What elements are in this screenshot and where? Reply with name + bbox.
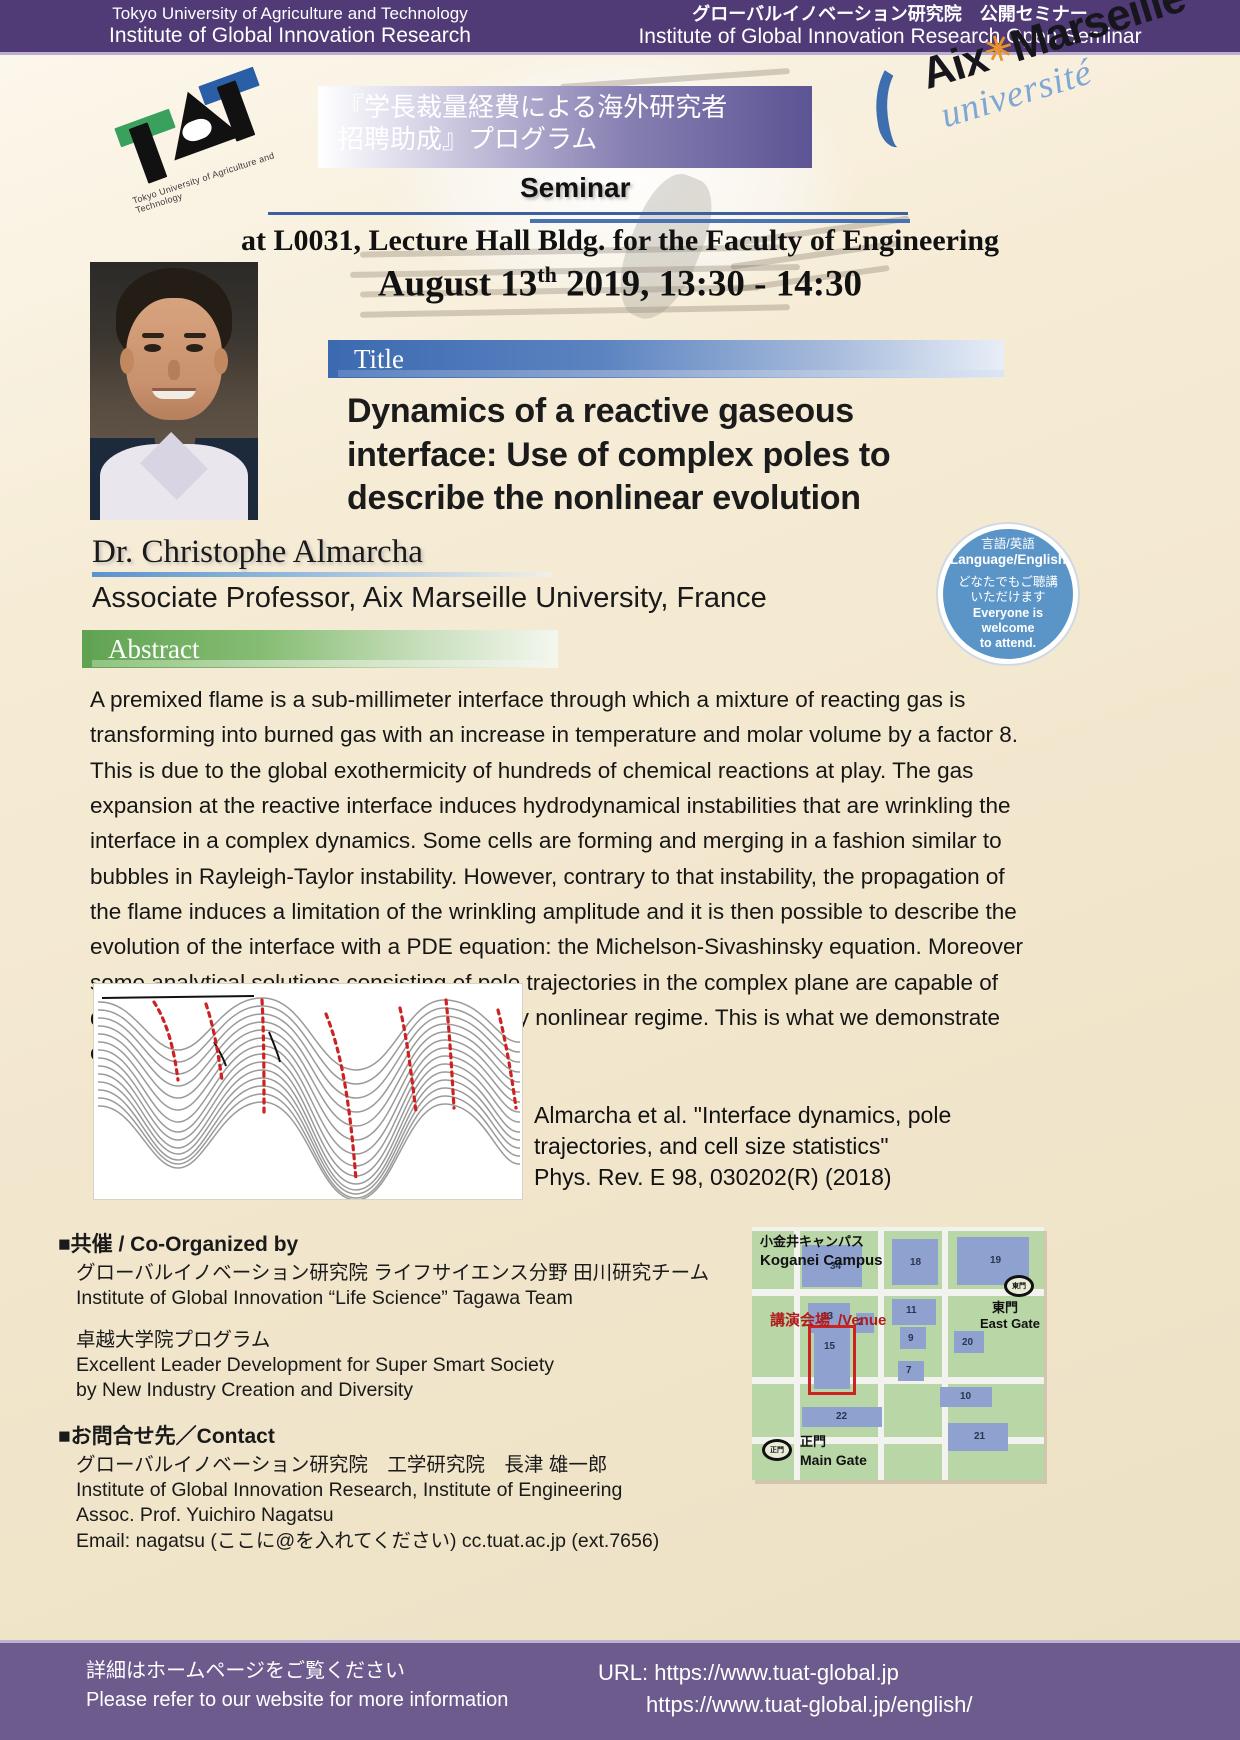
flame-figure-svg xyxy=(94,984,523,1200)
contact-en1: Institute of Global Innovation Research,… xyxy=(76,1478,738,1503)
flame-dynamics-figure xyxy=(93,983,523,1200)
footer-left-en: Please refer to our website for more inf… xyxy=(86,1686,508,1715)
speaker-name: Dr. Christophe Almarcha xyxy=(92,534,423,571)
citation-line3: Phys. Rev. E 98, 030202(R) (2018) xyxy=(534,1162,1004,1193)
header-left-line2: Institute of Global Innovation Research xyxy=(30,24,550,48)
badge-welcome-jp: どなたでもご聴講 いただけます xyxy=(958,575,1058,606)
header-left: Tokyo University of Agriculture and Tech… xyxy=(30,4,550,48)
footer-right: URL: https://www.tuat-global.jp https://… xyxy=(598,1657,973,1721)
map-label-20: 20 xyxy=(962,1337,973,1348)
figure-citation: Almarcha et al. "Interface dynamics, pol… xyxy=(534,1100,1004,1192)
citation-line2: trajectories, and cell size statistics" xyxy=(534,1131,1004,1162)
campus-map: 34 18 19 13 11 2 15 9 20 7 10 22 21 小金井キ… xyxy=(752,1227,1044,1480)
map-east-gate-jp: 東門 xyxy=(992,1301,1018,1316)
program-banner-line1: 『学長裁量経費による海外研究者 xyxy=(338,92,812,124)
map-label-18: 18 xyxy=(910,1257,921,1268)
coorg1-jp: グローバルイノベーション研究院 ライフサイエンス分野 田川研究チーム xyxy=(76,1261,738,1286)
map-label-15: 15 xyxy=(824,1341,835,1352)
map-label-9: 9 xyxy=(908,1333,914,1344)
contact-jp: グローバルイノベーション研究院 工学研究院 長津 雄一郎 xyxy=(76,1453,738,1478)
aix-marseille-logo: Aix✳Marseille université xyxy=(855,58,1085,223)
contact-email: Email: nagatsu (ここに@を入れてください) cc.tuat.ac… xyxy=(76,1529,738,1554)
map-label-19: 19 xyxy=(990,1255,1001,1266)
seminar-word: Seminar xyxy=(520,172,631,204)
map-venue-highlight xyxy=(808,1325,856,1395)
poster-root: Tokyo University of Agriculture and Tech… xyxy=(0,0,1240,1740)
badge-language-en: Language/English xyxy=(950,552,1066,568)
footer-url-jp[interactable]: URL: https://www.tuat-global.jp xyxy=(598,1657,973,1689)
badge-welcome-en: Everyone is welcome to attend. xyxy=(949,606,1067,652)
talk-title: Dynamics of a reactive gaseous interface… xyxy=(347,390,1007,521)
event-venue-line: at L0031, Lecture Hall Bldg. for the Fac… xyxy=(0,224,1240,258)
contact-heading: ■お問合せ先／Contact xyxy=(58,1420,738,1450)
speaker-portrait xyxy=(90,262,258,520)
coorganized-group-2: 卓越大学院プログラム Excellent Leader Development … xyxy=(58,1328,738,1404)
footer-left-jp: 詳細はホームページをご覧ください xyxy=(86,1657,508,1686)
map-campus-en: Koganei Campus xyxy=(760,1253,883,1270)
speaker-affiliation: Associate Professor, Aix Marseille Unive… xyxy=(92,582,767,615)
map-east-gate-en: East Gate xyxy=(980,1317,1040,1332)
map-main-gate-icon: 正門 xyxy=(762,1439,792,1461)
coorg2-jp: 卓越大学院プログラム xyxy=(76,1328,738,1353)
map-venue-jp: 講演会場 xyxy=(770,1313,830,1330)
coorganized-group-1: グローバルイノベーション研究院 ライフサイエンス分野 田川研究チーム Insti… xyxy=(58,1261,738,1312)
speaker-name-underline xyxy=(92,572,552,577)
footer-band: 詳細はホームページをご覧ください Please refer to our web… xyxy=(0,1640,1240,1740)
footer-left: 詳細はホームページをご覧ください Please refer to our web… xyxy=(86,1657,508,1715)
coorg2-en1: Excellent Leader Development for Super S… xyxy=(76,1353,738,1378)
title-section-underline xyxy=(328,370,1004,377)
tuat-logo: Tokyo University of Agriculture and Tech… xyxy=(108,62,298,192)
header-left-line1: Tokyo University of Agriculture and Tech… xyxy=(30,4,550,24)
map-east-gate-icon: 東門 xyxy=(1004,1275,1034,1297)
language-badge: 言語/英語 Language/English どなたでもご聴講 いただけます E… xyxy=(938,524,1078,664)
divider-rule-lower xyxy=(530,219,910,223)
bottom-info-block: ■共催 / Co-Organized by グローバルイノベーション研究院 ライ… xyxy=(58,1228,738,1570)
map-label-21: 21 xyxy=(974,1431,985,1442)
map-label-22: 22 xyxy=(836,1411,847,1422)
map-main-gate-en: Main Gate xyxy=(800,1453,867,1469)
map-label-11: 11 xyxy=(906,1305,917,1316)
contact-en2: Assoc. Prof. Yuichiro Nagatsu xyxy=(76,1503,738,1528)
footer-url-en[interactable]: https://www.tuat-global.jp/english/ xyxy=(598,1689,973,1721)
map-main-gate-jp: 正門 xyxy=(800,1435,826,1450)
badge-language-jp: 言語/英語 xyxy=(981,537,1034,552)
coorganized-heading: ■共催 / Co-Organized by xyxy=(58,1228,738,1258)
program-banner: 『学長裁量経費による海外研究者 招聘助成』プログラム xyxy=(318,86,812,168)
program-banner-line2: 招聘助成』プログラム xyxy=(338,124,812,156)
citation-line1: Almarcha et al. "Interface dynamics, pol… xyxy=(534,1100,1004,1131)
map-campus-jp: 小金井キャンパス xyxy=(760,1235,864,1250)
map-label-7: 7 xyxy=(906,1365,912,1376)
coorg2-en2: by New Industry Creation and Diversity xyxy=(76,1378,738,1403)
coorg1-en: Institute of Global Innovation “Life Sci… xyxy=(76,1286,738,1311)
map-label-10: 10 xyxy=(960,1391,971,1402)
map-venue-en: /Venue xyxy=(838,1313,886,1330)
divider-rule-upper xyxy=(268,212,908,215)
abstract-section-underline xyxy=(82,660,558,667)
contact-details: グローバルイノベーション研究院 工学研究院 長津 雄一郎 Institute o… xyxy=(58,1453,738,1554)
